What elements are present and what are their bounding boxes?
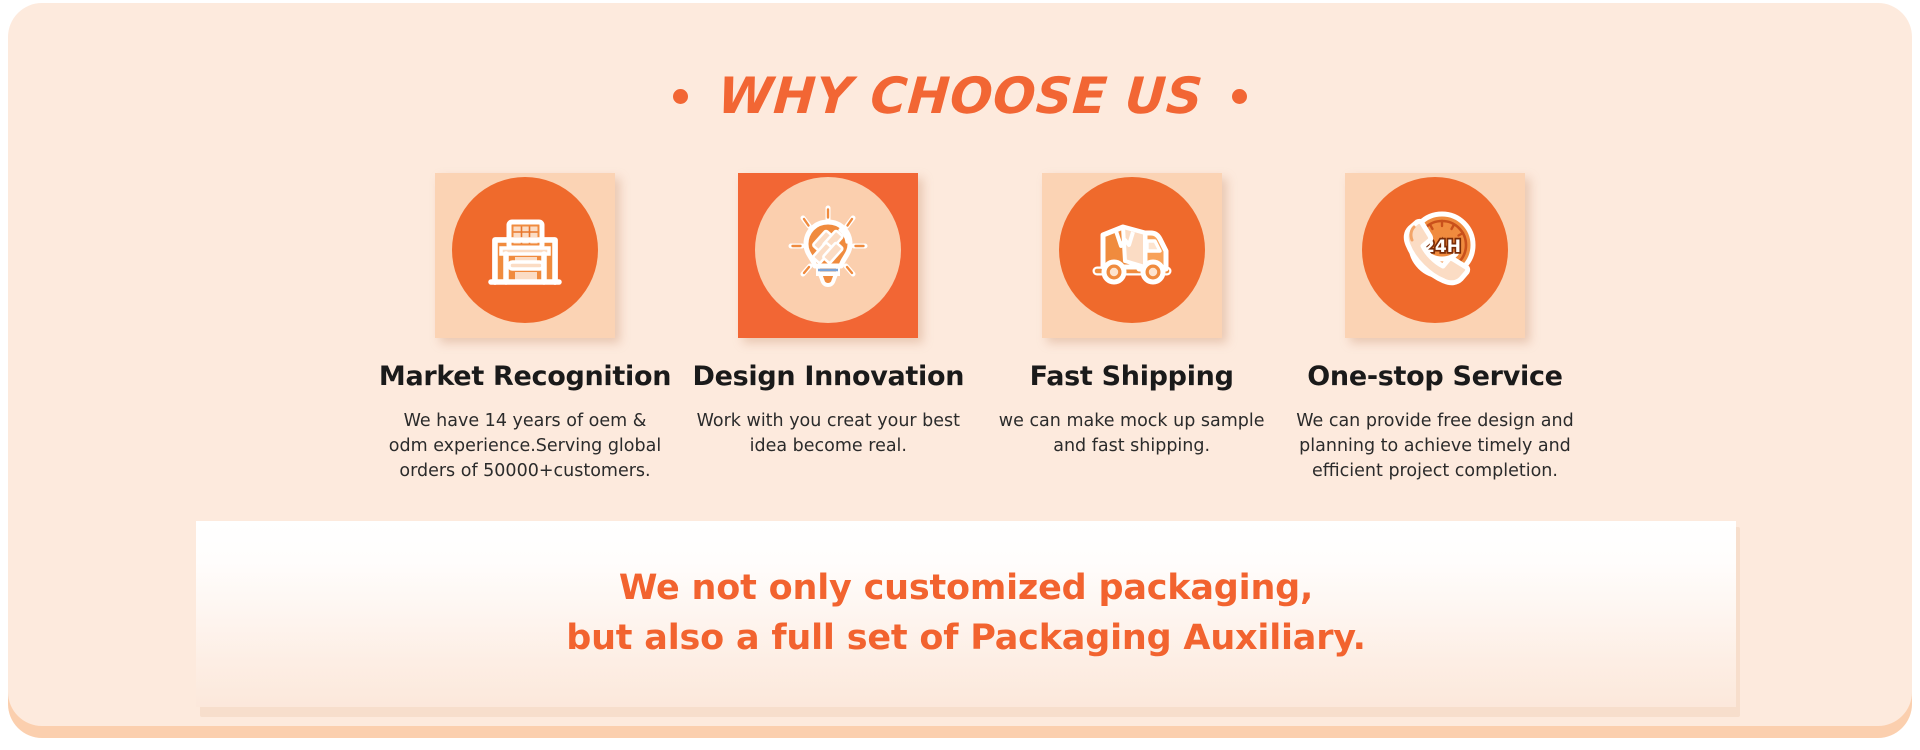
promo-banner-line-2: but also a full set of Packaging Auxilia… xyxy=(566,614,1366,664)
promo-banner-line-1: We not only customized packaging, xyxy=(566,564,1366,614)
stamp-background xyxy=(435,173,615,338)
lightbulb-idea-icon xyxy=(780,202,876,298)
feature-card-one-stop-service[interactable]: 24H One-stop Service We can provide free… xyxy=(1290,173,1580,485)
feature-description: we can make mock up sample and fast ship… xyxy=(993,409,1271,460)
bullet-dot-left-icon xyxy=(673,89,688,104)
stamp-background xyxy=(738,173,918,338)
feature-description: We can provide free design and planning … xyxy=(1296,409,1574,485)
stamp-background: 24H xyxy=(1345,173,1525,338)
factory-building-icon xyxy=(479,204,571,296)
feature-title: Design Innovation xyxy=(692,362,964,392)
promo-banner: We not only customized packaging, but al… xyxy=(196,521,1736,707)
feature-title: One-stop Service xyxy=(1307,362,1562,392)
promo-banner-text: We not only customized packaging, but al… xyxy=(566,564,1366,663)
feature-card-list: Market Recognition We have 14 years of o… xyxy=(380,173,1580,485)
why-choose-us-section: WHY CHOOSE US xyxy=(0,0,1920,750)
feature-card-fast-shipping[interactable]: Fast Shipping we can make mock up sample… xyxy=(987,173,1277,485)
section-heading: WHY CHOOSE US xyxy=(8,71,1912,121)
icon-disc: 24H xyxy=(1362,177,1508,323)
icon-disc xyxy=(755,177,901,323)
delivery-truck-icon xyxy=(1083,201,1181,299)
stamp-frame xyxy=(1042,173,1222,338)
feature-card-design-innovation[interactable]: Design Innovation Work with you creat yo… xyxy=(683,173,973,485)
stamp-background xyxy=(1042,173,1222,338)
stamp-frame xyxy=(738,173,918,338)
icon-disc xyxy=(452,177,598,323)
page-title: WHY CHOOSE US xyxy=(716,71,1204,121)
feature-description: Work with you creat your best idea becom… xyxy=(689,409,967,460)
stamp-frame xyxy=(435,173,615,338)
feature-title: Market Recognition xyxy=(379,362,671,392)
content-panel: WHY CHOOSE US xyxy=(8,3,1912,726)
stamp-frame: 24H xyxy=(1345,173,1525,338)
bullet-dot-right-icon xyxy=(1232,89,1247,104)
icon-disc xyxy=(1059,177,1205,323)
feature-title: Fast Shipping xyxy=(1030,362,1234,392)
feature-description: We have 14 years of oem & odm experience… xyxy=(386,409,664,485)
phone-24h-support-icon: 24H xyxy=(1385,200,1485,300)
feature-card-market-recognition[interactable]: Market Recognition We have 14 years of o… xyxy=(380,173,670,485)
